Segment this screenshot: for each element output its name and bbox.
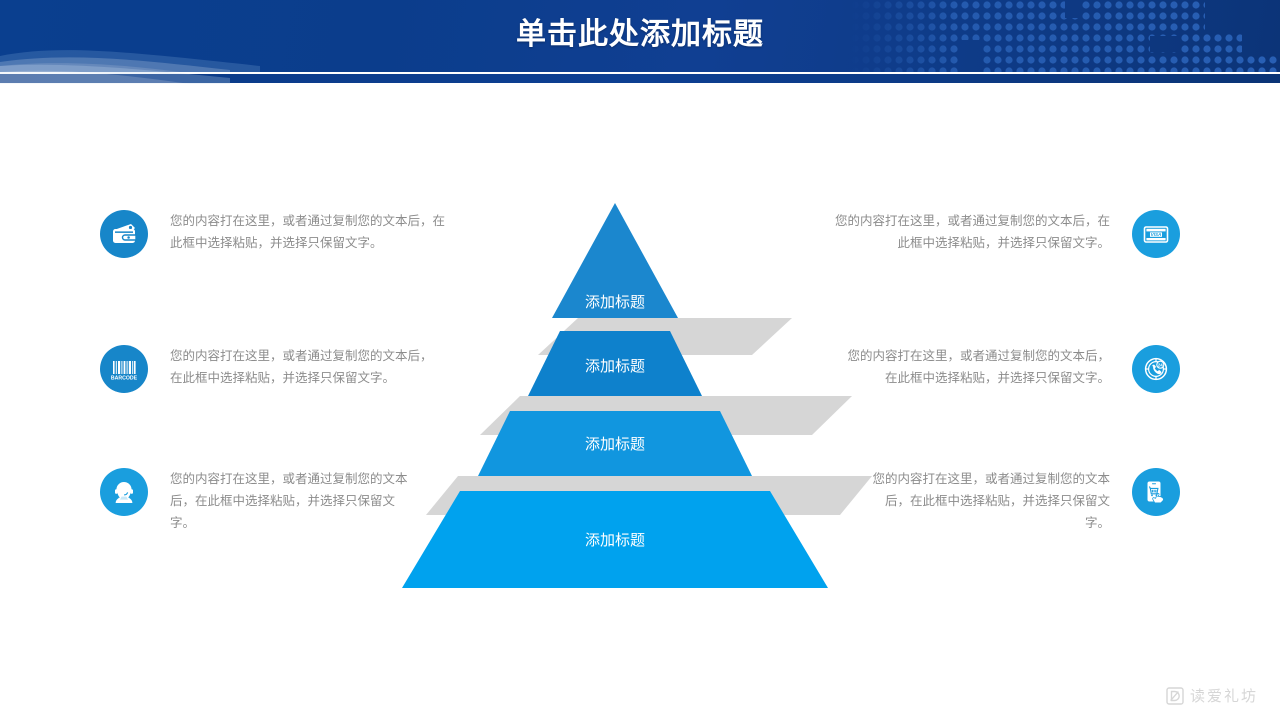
list-item-right-3[interactable]: 您的内容打在这里，或者通过复制您的文本后，在此框中选择粘贴，并选择只保留文字。 bbox=[870, 468, 1180, 534]
list-item-left-3-text: 您的内容打在这里，或者通过复制您的文本后，在此框中选择粘贴，并选择只保留文字。 bbox=[170, 468, 410, 534]
watermark-text: 读爱礼坊 bbox=[1190, 685, 1258, 706]
visa-label: VISA bbox=[1151, 232, 1162, 237]
list-item-right-3-text: 您的内容打在这里，或者通过复制您的文本后，在此框中选择粘贴，并选择只保留文字。 bbox=[870, 468, 1110, 534]
list-item-right-2-text: 您的内容打在这里，或者通过复制您的文本后，在此框中选择粘贴，并选择只保留文字。 bbox=[838, 345, 1110, 389]
mobile-shopping-icon[interactable] bbox=[1132, 468, 1180, 516]
pyramid-svg bbox=[400, 203, 880, 588]
list-item-right-2[interactable]: 24 您的内容打在这里，或者通过复制您的文本后，在此框中选择粘贴，并选择只保留文… bbox=[838, 345, 1180, 393]
list-item-left-3[interactable]: 您的内容打在这里，或者通过复制您的文本后，在此框中选择粘贴，并选择只保留文字。 bbox=[100, 468, 410, 534]
phone-24h-icon[interactable]: 24 bbox=[1132, 345, 1180, 393]
visa-card-icon[interactable]: VISA bbox=[1132, 210, 1180, 258]
pyramid-tier-4 bbox=[402, 491, 828, 588]
list-item-left-2[interactable]: BARCODE 您的内容打在这里，或者通过复制您的文本后，在此框中选择粘贴，并选… bbox=[100, 345, 442, 393]
hours-label: 24 bbox=[1158, 362, 1163, 367]
list-item-left-1[interactable]: 您的内容打在这里，或者通过复制您的文本后，在此框中选择粘贴，并选择只保留文字。 bbox=[100, 210, 455, 258]
barcode-label: BARCODE bbox=[111, 375, 138, 381]
pyramid-diagram: 添加标题 添加标题 添加标题 添加标题 bbox=[400, 203, 880, 588]
list-item-left-2-text: 您的内容打在这里，或者通过复制您的文本后，在此框中选择粘贴，并选择只保留文字。 bbox=[170, 345, 442, 389]
watermark: 读爱礼坊 bbox=[1166, 685, 1258, 706]
list-item-right-1[interactable]: VISA 您的内容打在这里，或者通过复制您的文本后，在此框中选择粘贴，并选择只保… bbox=[825, 210, 1180, 258]
header-underbar-swoosh bbox=[0, 62, 230, 84]
wallet-icon[interactable] bbox=[100, 210, 148, 258]
barcode-icon[interactable]: BARCODE bbox=[100, 345, 148, 393]
customer-service-icon[interactable] bbox=[100, 468, 148, 516]
slide-body: 添加标题 添加标题 添加标题 添加标题 您的内容打在这里，或者通过复制您的文本后… bbox=[0, 83, 1280, 720]
d-logo-icon bbox=[1166, 687, 1184, 705]
pyramid-tier-1 bbox=[552, 203, 678, 318]
pyramid-tier-3 bbox=[478, 411, 752, 476]
list-item-right-1-text: 您的内容打在这里，或者通过复制您的文本后，在此框中选择粘贴，并选择只保留文字。 bbox=[825, 210, 1110, 254]
list-item-left-1-text: 您的内容打在这里，或者通过复制您的文本后，在此框中选择粘贴，并选择只保留文字。 bbox=[170, 210, 455, 254]
